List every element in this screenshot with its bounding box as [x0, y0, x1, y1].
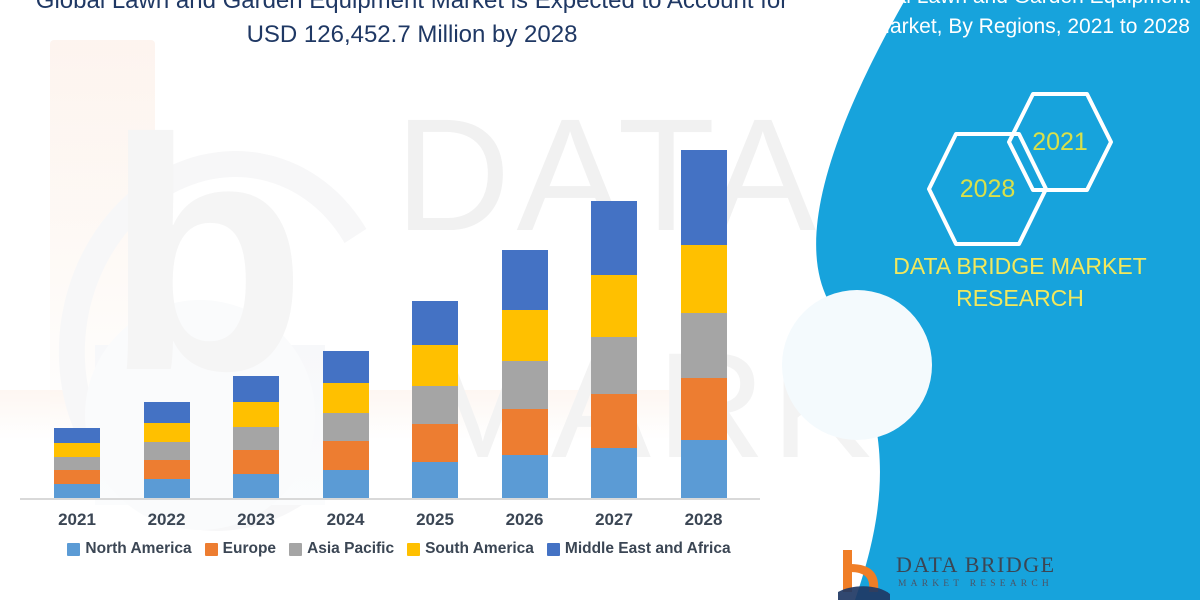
- legend-label: Europe: [223, 540, 276, 558]
- bar-segment: [502, 409, 548, 455]
- bar-segment: [323, 383, 369, 413]
- legend-item[interactable]: Europe: [205, 540, 276, 558]
- bar-segment: [591, 275, 637, 337]
- bar-column: [144, 402, 190, 498]
- logo-title: DATA BRIDGE: [896, 552, 1056, 578]
- chart-title: Global Lawn and Garden Equipment Market …: [12, 0, 812, 52]
- legend-swatch-icon: [67, 543, 80, 556]
- bar-segment: [323, 441, 369, 470]
- bar-segment: [233, 427, 279, 450]
- legend-item[interactable]: North America: [67, 540, 191, 558]
- bar-segment: [54, 428, 100, 443]
- hexagon-2028-label: 2028: [960, 175, 1016, 204]
- bar-segment: [502, 310, 548, 361]
- bar-segment: [591, 394, 637, 448]
- x-axis-tick-label: 2024: [311, 510, 381, 530]
- legend-item[interactable]: Middle East and Africa: [547, 540, 731, 558]
- bar-segment: [502, 361, 548, 409]
- bar-column: [681, 150, 727, 498]
- bar-segment: [233, 474, 279, 498]
- bar-segment: [591, 448, 637, 498]
- x-axis-tick-label: 2027: [579, 510, 649, 530]
- legend-item[interactable]: South America: [407, 540, 534, 558]
- footer-logo: DATA BRIDGE MARKET RESEARCH: [838, 548, 1138, 600]
- x-axis-labels: 20212022202320242025202620272028: [20, 510, 760, 534]
- x-axis-tick-label: 2023: [221, 510, 291, 530]
- legend-swatch-icon: [205, 543, 218, 556]
- bar-segment: [233, 402, 279, 427]
- bar-segment: [681, 378, 727, 440]
- bar-segment: [54, 457, 100, 470]
- bar-segment: [54, 443, 100, 457]
- bar-segment: [412, 301, 458, 345]
- bar-segment: [323, 351, 369, 383]
- hexagon-2021-label: 2021: [1032, 128, 1088, 157]
- legend-label: South America: [425, 540, 534, 558]
- bar-segment: [144, 402, 190, 423]
- bar-segment: [412, 386, 458, 424]
- bar-column: [591, 201, 637, 498]
- bar-segment: [681, 245, 727, 313]
- stacked-bar-chart: Global Lawn and Garden Equipment Market …: [0, 0, 800, 600]
- legend-swatch-icon: [407, 543, 420, 556]
- brand-line-2: RESEARCH: [860, 282, 1180, 314]
- brand-panel-content: Global Lawn and Garden Equipment Market,…: [830, 0, 1200, 600]
- bar-column: [54, 428, 100, 498]
- bar-segment: [681, 150, 727, 245]
- x-axis-tick-label: 2025: [400, 510, 470, 530]
- bridge-logo-icon: [838, 548, 890, 600]
- bar-column: [233, 376, 279, 498]
- chart-baseline: [20, 498, 760, 500]
- bar-segment: [412, 345, 458, 386]
- brand-name: DATA BRIDGE MARKET RESEARCH: [860, 250, 1180, 314]
- legend-label: Asia Pacific: [307, 540, 394, 558]
- bar-segment: [323, 470, 369, 498]
- x-axis-tick-label: 2022: [132, 510, 202, 530]
- x-axis-tick-label: 2028: [669, 510, 739, 530]
- bar-segment: [144, 460, 190, 479]
- legend-swatch-icon: [547, 543, 560, 556]
- chart-legend: North AmericaEuropeAsia PacificSouth Ame…: [14, 540, 784, 558]
- bar-segment: [681, 313, 727, 378]
- bar-segment: [412, 462, 458, 498]
- bar-segment: [412, 424, 458, 462]
- bar-segment: [54, 484, 100, 498]
- legend-item[interactable]: Asia Pacific: [289, 540, 394, 558]
- legend-label: North America: [85, 540, 191, 558]
- brand-line-1: DATA BRIDGE MARKET: [860, 250, 1180, 282]
- logo-subtitle: MARKET RESEARCH: [898, 579, 1053, 589]
- legend-label: Middle East and Africa: [565, 540, 731, 558]
- bar-segment: [144, 442, 190, 460]
- bar-segment: [233, 376, 279, 402]
- hexagon-2021: 2021: [1005, 90, 1115, 194]
- panel-title: Global Lawn and Garden Equipment Market,…: [840, 0, 1198, 42]
- bar-segment: [591, 337, 637, 394]
- bar-segment: [591, 201, 637, 275]
- x-axis-tick-label: 2021: [42, 510, 112, 530]
- bar-group: [20, 120, 760, 498]
- bar-segment: [681, 440, 727, 498]
- x-axis-tick-label: 2026: [490, 510, 560, 530]
- bar-segment: [323, 413, 369, 441]
- bar-segment: [502, 250, 548, 310]
- infographic-canvas: b DATA BRIDGE MARKET RESEARCH Global Law…: [0, 0, 1200, 600]
- legend-swatch-icon: [289, 543, 302, 556]
- bar-column: [323, 351, 369, 498]
- bar-column: [502, 250, 548, 498]
- bar-segment: [144, 479, 190, 498]
- bar-segment: [233, 450, 279, 474]
- bar-segment: [502, 455, 548, 498]
- bar-column: [412, 301, 458, 498]
- bar-segment: [54, 470, 100, 484]
- bar-segment: [144, 423, 190, 442]
